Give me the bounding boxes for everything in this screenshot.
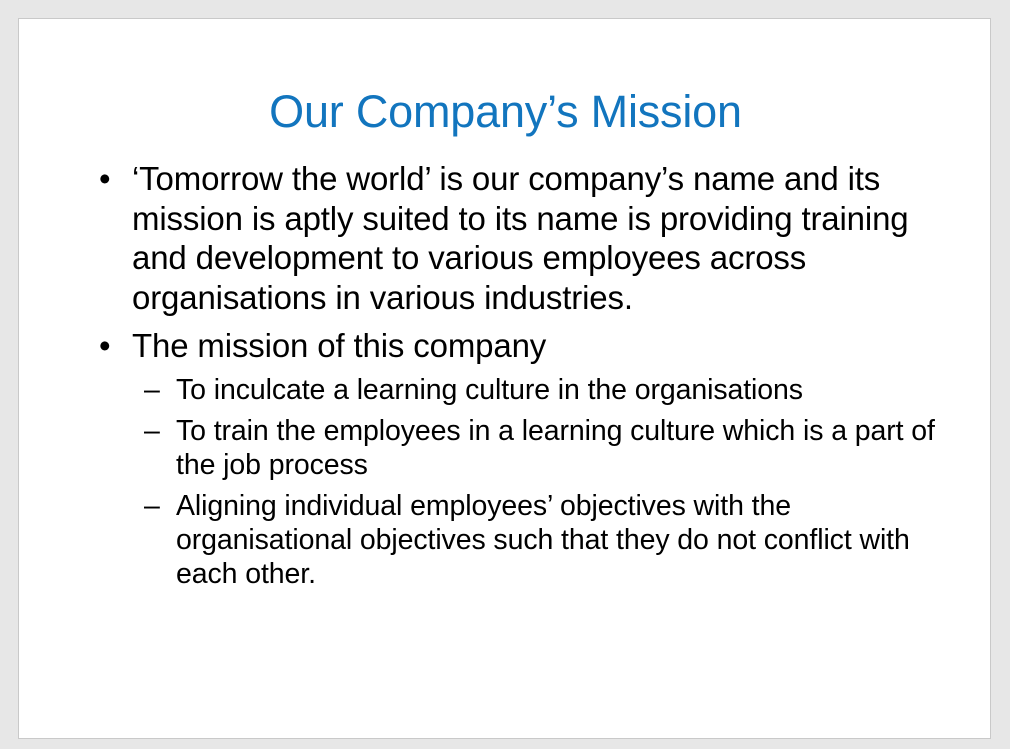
list-item: • ‘Tomorrow the world’ is our company’s …	[64, 159, 964, 317]
sub-list-item: – To inculcate a learning culture in the…	[64, 373, 964, 407]
bullet-dot-icon: •	[99, 159, 110, 199]
sub-list-item-text: To train the employees in a learning cul…	[176, 414, 964, 482]
list-item: • The mission of this company	[64, 326, 964, 366]
sub-list-item-text: To inculcate a learning culture in the o…	[176, 373, 964, 407]
sub-list-item-text: Aligning individual employees’ objective…	[176, 489, 964, 591]
bullet-dash-icon: –	[144, 414, 160, 448]
list-item-text: ‘Tomorrow the world’ is our company’s na…	[132, 159, 964, 317]
bullet-dot-icon: •	[99, 326, 110, 366]
list-item-text: The mission of this company	[132, 326, 964, 366]
slide-frame: Our Company’s Mission • ‘Tomorrow the wo…	[18, 18, 991, 739]
page-title: Our Company’s Mission	[19, 87, 991, 137]
slide-body: • ‘Tomorrow the world’ is our company’s …	[64, 159, 964, 591]
bullet-dash-icon: –	[144, 373, 160, 407]
sub-list-item: – Aligning individual employees’ objecti…	[64, 489, 964, 591]
bullet-dash-icon: –	[144, 489, 160, 523]
sub-list-item: – To train the employees in a learning c…	[64, 414, 964, 482]
